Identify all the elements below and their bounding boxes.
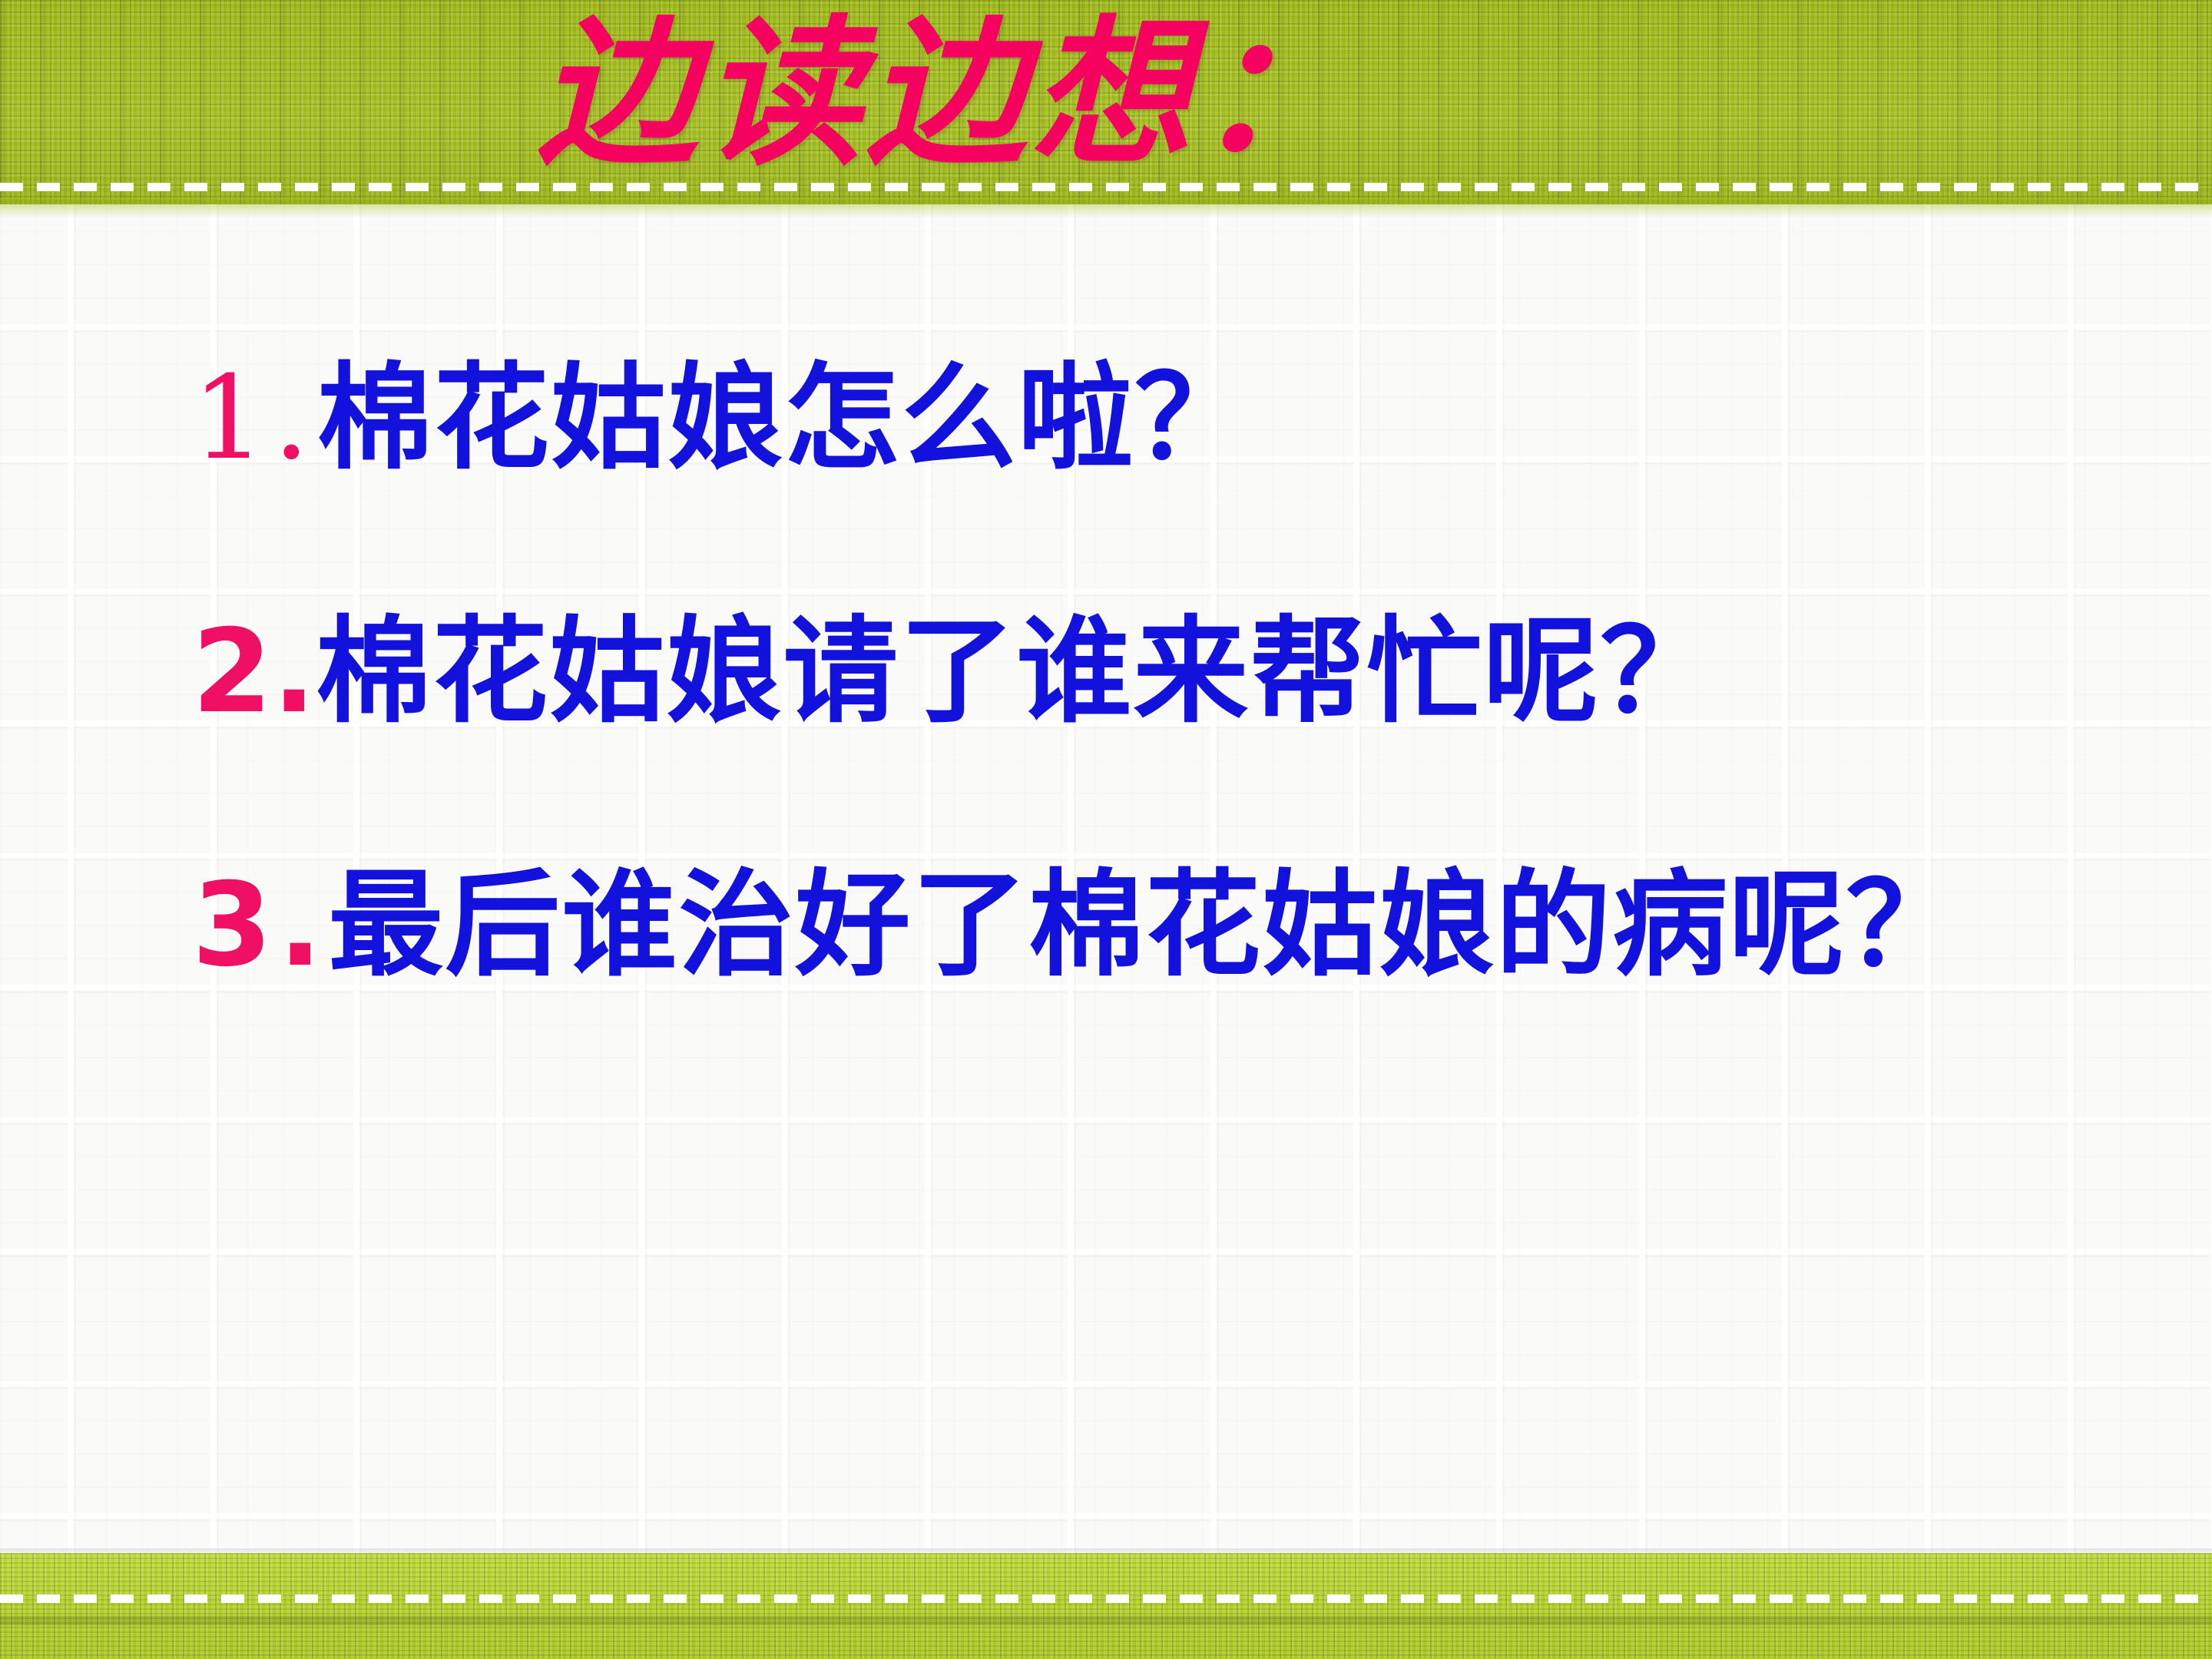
bottom-stitch-dashes-icon	[0, 1594, 2212, 1603]
question-number: 2.	[192, 614, 316, 730]
list-item: 3. 最后谁治好了棉花姑娘的病呢？	[0, 868, 2212, 1121]
top-band-fade	[0, 198, 2212, 218]
question-number: 1.	[192, 361, 317, 476]
bottom-band-shadow-line	[0, 1616, 2212, 1625]
bottom-green-band	[0, 1553, 2212, 1659]
question-number: 3.	[192, 868, 328, 983]
slide-title: 边读边想：	[538, 14, 1536, 174]
slide-canvas: 边读边想： 1. 棉花姑娘怎么啦？ 2. 棉花姑娘请了谁来帮忙呢？ 3. 最后谁…	[0, 0, 2212, 1659]
question-text: 棉花姑娘怎么啦？	[317, 361, 1251, 476]
list-item: 1. 棉花姑娘怎么啦？	[0, 361, 2212, 614]
question-text: 最后谁治好了棉花姑娘的病呢？	[328, 868, 1962, 983]
question-text: 棉花姑娘请了谁来帮忙呢？	[316, 614, 1717, 730]
question-list: 1. 棉花姑娘怎么啦？ 2. 棉花姑娘请了谁来帮忙呢？ 3. 最后谁治好了棉花姑…	[0, 361, 2212, 1121]
list-item: 2. 棉花姑娘请了谁来帮忙呢？	[0, 614, 2212, 868]
